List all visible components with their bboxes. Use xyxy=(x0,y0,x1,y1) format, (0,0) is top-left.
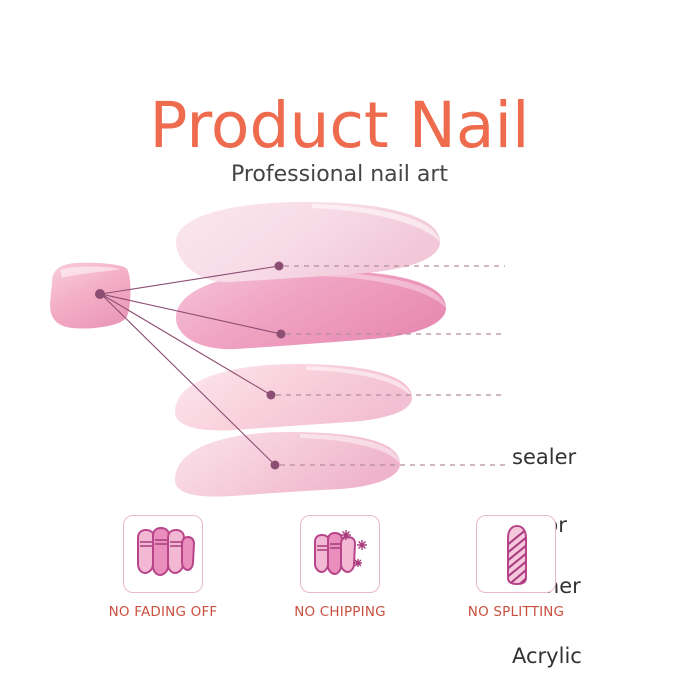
feature-no-splitting: NO SPLITTING xyxy=(426,515,606,620)
layers-svg xyxy=(0,190,679,510)
feature-no-chipping: NO CHIPPING xyxy=(250,515,430,620)
nails-with-stars-icon xyxy=(301,516,380,593)
anchor-dot-primer xyxy=(267,391,276,400)
hub-dot xyxy=(95,289,105,299)
nail-sample xyxy=(50,263,131,329)
feature-caption-2: NO CHIPPING xyxy=(250,604,430,620)
feature-caption-1: NO FADING OFF xyxy=(73,604,253,620)
layer-label-sealer: sealer xyxy=(512,445,576,469)
anchor-dot-acrylic xyxy=(271,461,280,470)
page-subtitle: Professional nail art xyxy=(0,162,679,187)
striped-nail-icon xyxy=(477,516,556,593)
layer-shape-acrylic xyxy=(175,432,400,497)
layer-label-acrylic: Acrylic xyxy=(512,644,582,668)
four-nails-icon xyxy=(124,516,203,593)
layer-shape-sealer xyxy=(176,202,440,282)
feature-icon-frame-2 xyxy=(300,515,380,593)
anchor-dot-color xyxy=(277,330,286,339)
nail-layers-diagram: sealer Color Primer Acrylic xyxy=(0,190,679,510)
feature-list: NO FADING OFF xyxy=(0,515,679,645)
layer-shape-primer xyxy=(175,364,412,430)
feature-no-fading-off: NO FADING OFF xyxy=(73,515,253,620)
feature-caption-3: NO SPLITTING xyxy=(426,604,606,620)
anchor-dot-sealer xyxy=(275,262,284,271)
feature-icon-frame-1 xyxy=(123,515,203,593)
feature-icon-frame-3 xyxy=(476,515,556,593)
layer-shape-color xyxy=(176,270,446,349)
poster-root: Product Nail Professional nail art xyxy=(0,0,679,691)
page-title: Product Nail xyxy=(0,94,679,157)
